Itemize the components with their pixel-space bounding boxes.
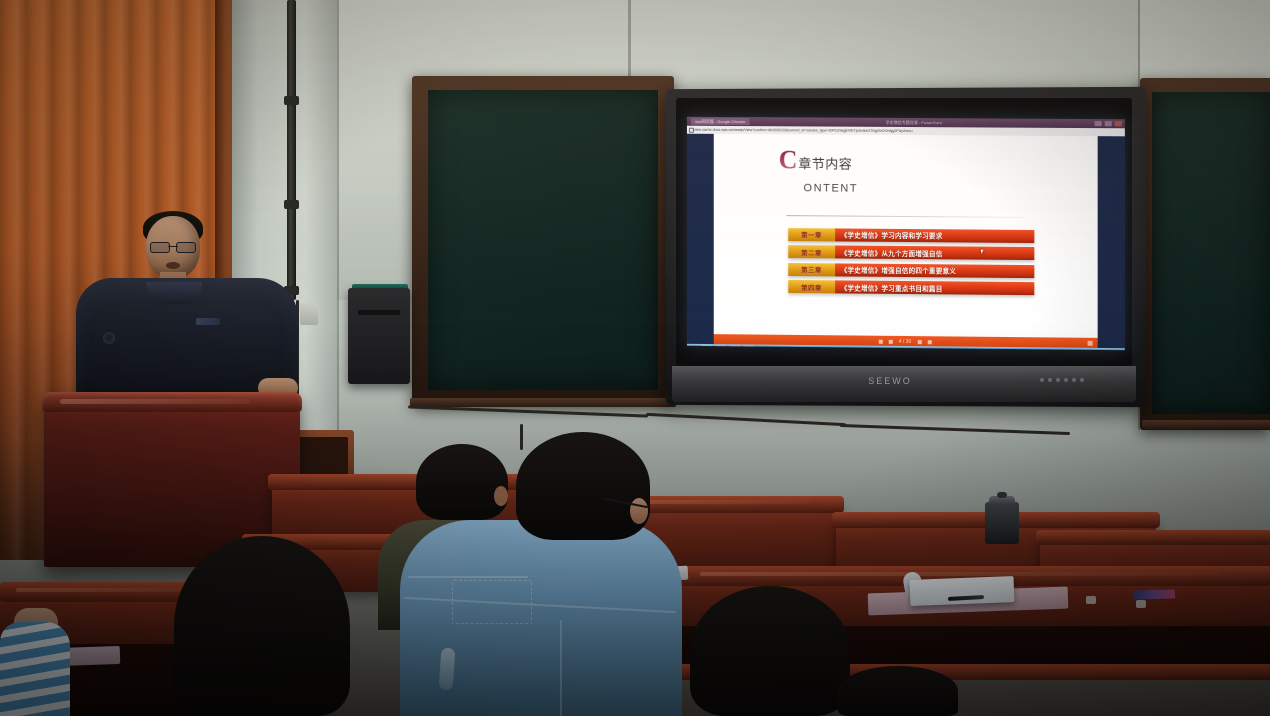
prev-slide-icon[interactable] xyxy=(889,339,893,343)
agenda-chapter-number: 第一章 xyxy=(788,228,834,241)
agenda-row[interactable]: 第三章 《学史增信》增强自信的四个重要意义 xyxy=(788,263,1034,278)
heading-subtitle: ONTENT xyxy=(804,182,859,194)
thermos-knob xyxy=(997,492,1007,498)
denim-seam xyxy=(560,620,562,716)
notebook[interactable] xyxy=(910,576,1015,606)
close-icon[interactable] xyxy=(1115,121,1122,126)
agenda-chapter-text: 《学史增信》从九个方面增强自信 xyxy=(835,246,1034,261)
first-slide-icon[interactable] xyxy=(879,339,883,343)
fullscreen-icon[interactable] xyxy=(1087,341,1092,346)
window-controls[interactable] xyxy=(1095,121,1122,126)
attendee-hair xyxy=(838,666,958,716)
denim-pocket xyxy=(452,580,532,624)
desk-highlight xyxy=(700,572,1220,576)
last-slide-icon[interactable] xyxy=(927,340,931,344)
heading-c-glyph: C xyxy=(779,149,798,170)
chalk-rail-right xyxy=(1142,420,1270,429)
agenda-chapter-text: 《学史增信》增强自信的四个重要意义 xyxy=(835,263,1034,278)
attendee-hair xyxy=(690,586,850,716)
maximize-icon[interactable] xyxy=(1105,121,1112,126)
bench-desk-top xyxy=(1036,530,1270,545)
presentation-slide[interactable]: C 章节内容 ONTENT 第一章 《学史增信》学习内容和学习要求 第二章 《学… xyxy=(714,134,1098,350)
minimize-icon[interactable] xyxy=(1095,121,1102,126)
heading-chinese: 章节内容 xyxy=(798,153,852,172)
pipe-band xyxy=(284,96,299,105)
agenda-chapter-text: 《学史增信》学习重点书目和篇目 xyxy=(835,281,1034,296)
chalkboard-right-surface xyxy=(1152,92,1270,414)
chalkboard-left-surface xyxy=(428,90,658,390)
wall-seam xyxy=(337,0,339,470)
browser-viewport: C 章节内容 ONTENT 第一章 《学史增信》学习内容和学习要求 第二章 《学… xyxy=(687,134,1125,351)
agenda-row[interactable]: 第四章 《学史增信》学习重点书目和篇目 xyxy=(788,280,1034,295)
slide-navigation[interactable]: 4 / 30 xyxy=(879,338,932,345)
thermos-flask[interactable] xyxy=(985,502,1019,544)
book-on-desk[interactable] xyxy=(1133,589,1175,599)
attendee-hair xyxy=(416,444,508,520)
attendee-ear xyxy=(494,486,508,506)
foreground-attendee-hair xyxy=(174,536,350,716)
browser-window-title: 学史增信专题党课 - PowerPoint xyxy=(886,119,942,125)
agenda-chapter-number: 第三章 xyxy=(788,263,834,276)
jacket-logo xyxy=(196,318,220,325)
denim-seam xyxy=(408,576,528,578)
chalk-rail-left xyxy=(410,398,676,407)
attendee-hair xyxy=(516,432,650,540)
wall-outlet xyxy=(300,303,318,325)
attendee-ear xyxy=(630,498,648,524)
striped-sleeve xyxy=(0,622,70,716)
speaker-vent xyxy=(358,310,400,315)
page-indicator: 4 / 30 xyxy=(899,338,912,344)
lectern-highlight xyxy=(60,399,250,404)
jacket-sleeve-patch xyxy=(103,332,115,344)
slide-heading: C 章节内容 xyxy=(779,149,853,172)
denim-distress xyxy=(439,648,456,691)
display-indicator-leds xyxy=(1040,378,1084,382)
hanging-cable xyxy=(520,424,523,450)
display-screen[interactable]: wps网页版 - Google Chrome 学史增信专题党课 - PowerP… xyxy=(687,117,1125,350)
agenda-chapter-number: 第二章 xyxy=(788,245,834,258)
browser-tab[interactable]: wps网页版 - Google Chrome xyxy=(691,118,749,125)
wall-pipe xyxy=(287,0,296,300)
classroom-photo-scene: wps网页版 - Google Chrome 学史增信专题党课 - PowerP… xyxy=(0,0,1270,716)
agenda-list: 第一章 《学史增信》学习内容和学习要求 第二章 《学史增信》从九个方面增强自信 … xyxy=(788,228,1034,300)
desk-hardware xyxy=(1086,596,1096,604)
display-brand-label: SEEWO xyxy=(860,376,920,388)
heading-divider xyxy=(786,215,1024,218)
agenda-row[interactable]: 第一章 《学史增信》学习内容和学习要求 xyxy=(788,228,1034,243)
desk-hardware xyxy=(1136,600,1146,608)
agenda-chapter-text: 《学史增信》学习内容和学习要求 xyxy=(835,228,1034,243)
agenda-row[interactable]: 第二章 《学史增信》从九个方面增强自信 xyxy=(788,245,1034,260)
next-slide-icon[interactable] xyxy=(917,340,921,344)
home-icon[interactable] xyxy=(719,336,725,342)
pipe-band xyxy=(284,200,299,209)
lock-icon xyxy=(689,128,694,133)
agenda-chapter-number: 第四章 xyxy=(788,280,834,293)
glasses-icon xyxy=(150,242,196,251)
presenter-mouth xyxy=(166,262,180,269)
wall-speaker xyxy=(348,288,410,384)
wall-seam xyxy=(628,0,631,80)
